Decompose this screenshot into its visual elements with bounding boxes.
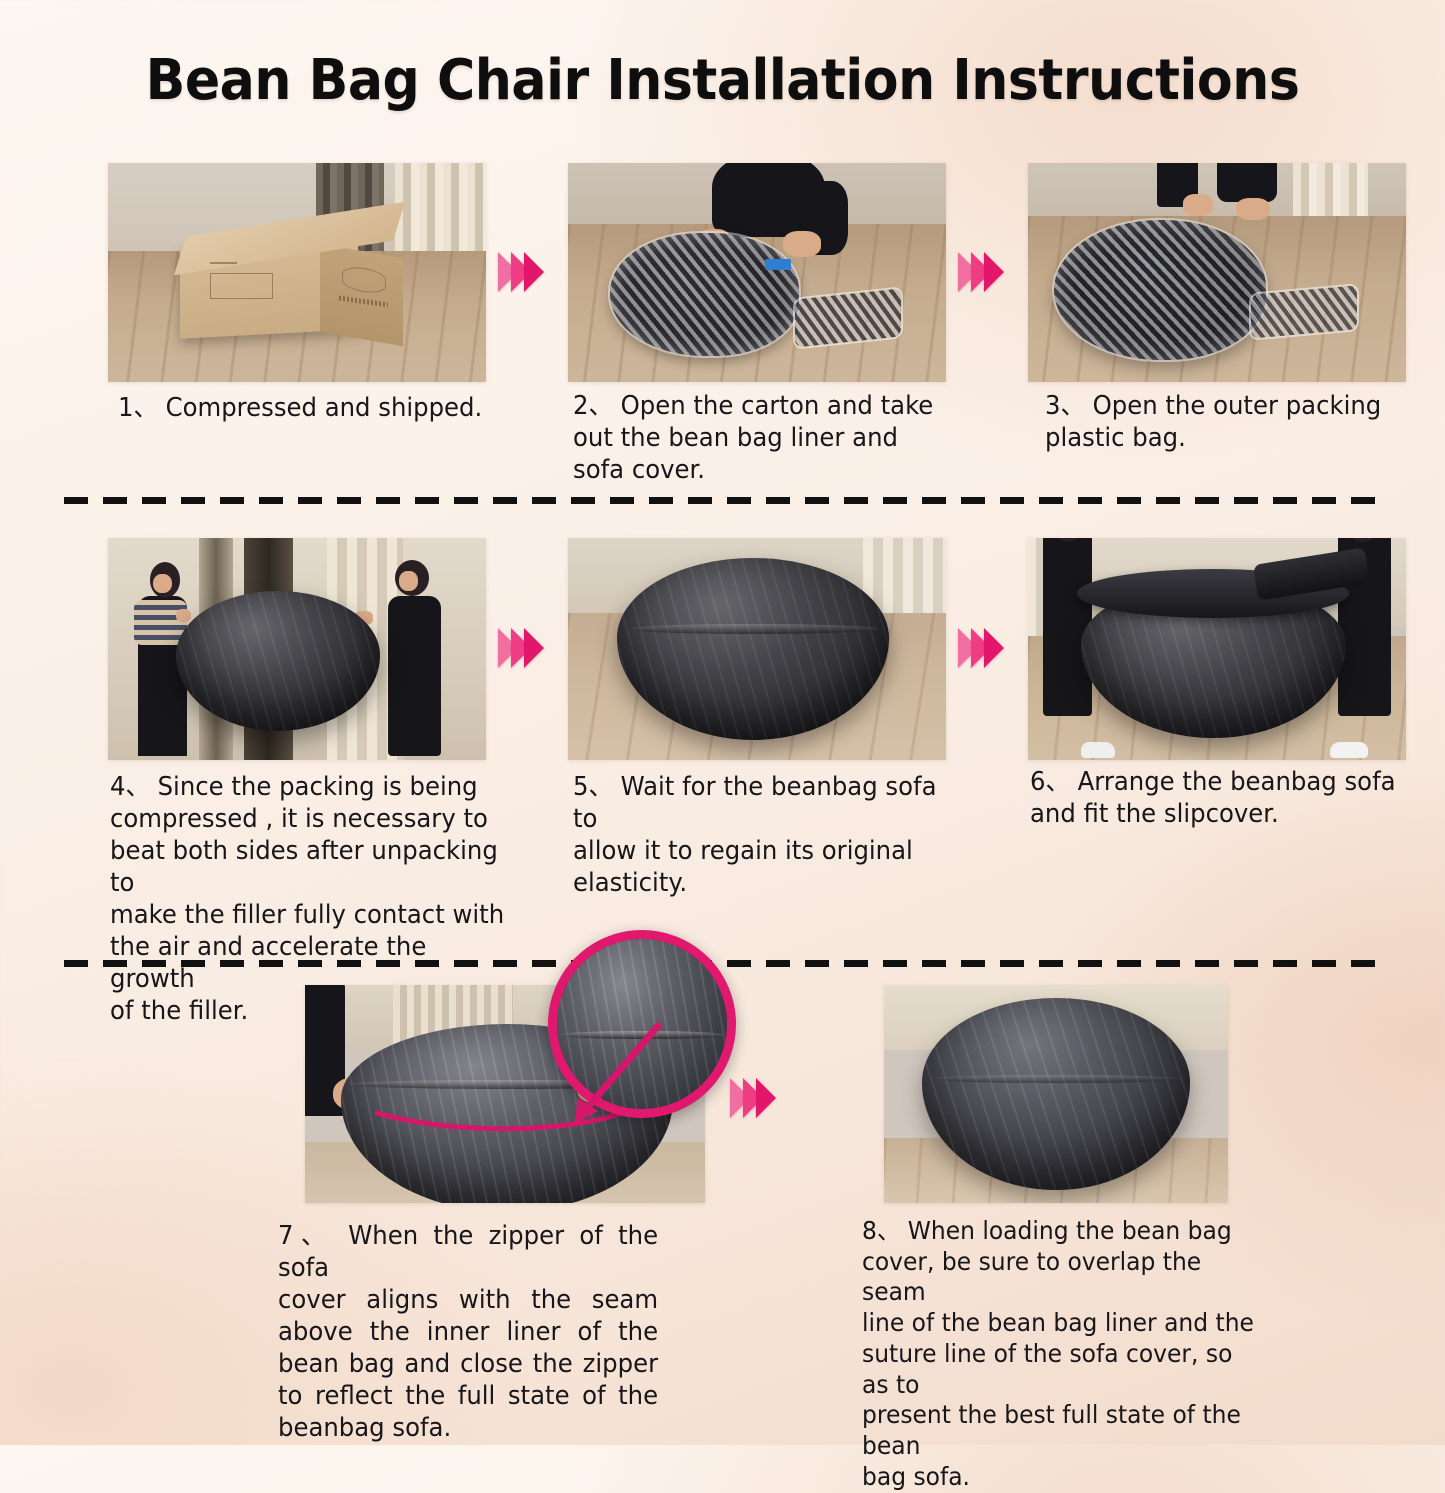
step-photo-6 <box>1028 538 1406 760</box>
arrow-step-7-to-8 <box>730 1078 769 1118</box>
step-photo-5 <box>568 538 946 760</box>
step-caption-7: 7、 When the zipper of the sofa cover ali… <box>278 1220 658 1444</box>
chevron-right-icon <box>756 1078 776 1118</box>
step-photo-8 <box>884 985 1228 1203</box>
arrow-step-5-to-6 <box>958 628 997 668</box>
arrow-step-4-to-5 <box>498 628 537 668</box>
arrow-step-1-to-2 <box>498 252 537 292</box>
zoom-callout-circle <box>548 930 736 1118</box>
chevron-right-icon <box>524 628 544 668</box>
chevron-right-icon <box>984 252 1004 292</box>
page-title: Bean Bag Chair Installation Instructions <box>51 48 1395 113</box>
divider-row-1 <box>64 497 1382 504</box>
chevron-right-icon <box>524 252 544 292</box>
step-caption-2: 2、 Open the carton and take out the bean… <box>573 390 950 486</box>
step-photo-2 <box>568 163 946 382</box>
step-caption-1: 1、 Compressed and shipped. <box>118 392 500 424</box>
step-photo-4 <box>108 538 486 760</box>
instruction-sheet: Bean Bag Chair Installation Instructions <box>0 0 1445 1445</box>
step-caption-3: 3、 Open the outer packing plastic bag. <box>1045 390 1408 454</box>
step-caption-6: 6、 Arrange the beanbag sofa and fit the … <box>1030 766 1407 830</box>
step-caption-5: 5、 Wait for the beanbag sofa to allow it… <box>573 771 955 899</box>
chevron-right-icon <box>984 628 1004 668</box>
step-caption-8: 8、 When loading the bean bag cover, be s… <box>862 1216 1263 1493</box>
arrow-step-2-to-3 <box>958 252 997 292</box>
step-photo-1 <box>108 163 486 382</box>
step-photo-3 <box>1028 163 1406 382</box>
